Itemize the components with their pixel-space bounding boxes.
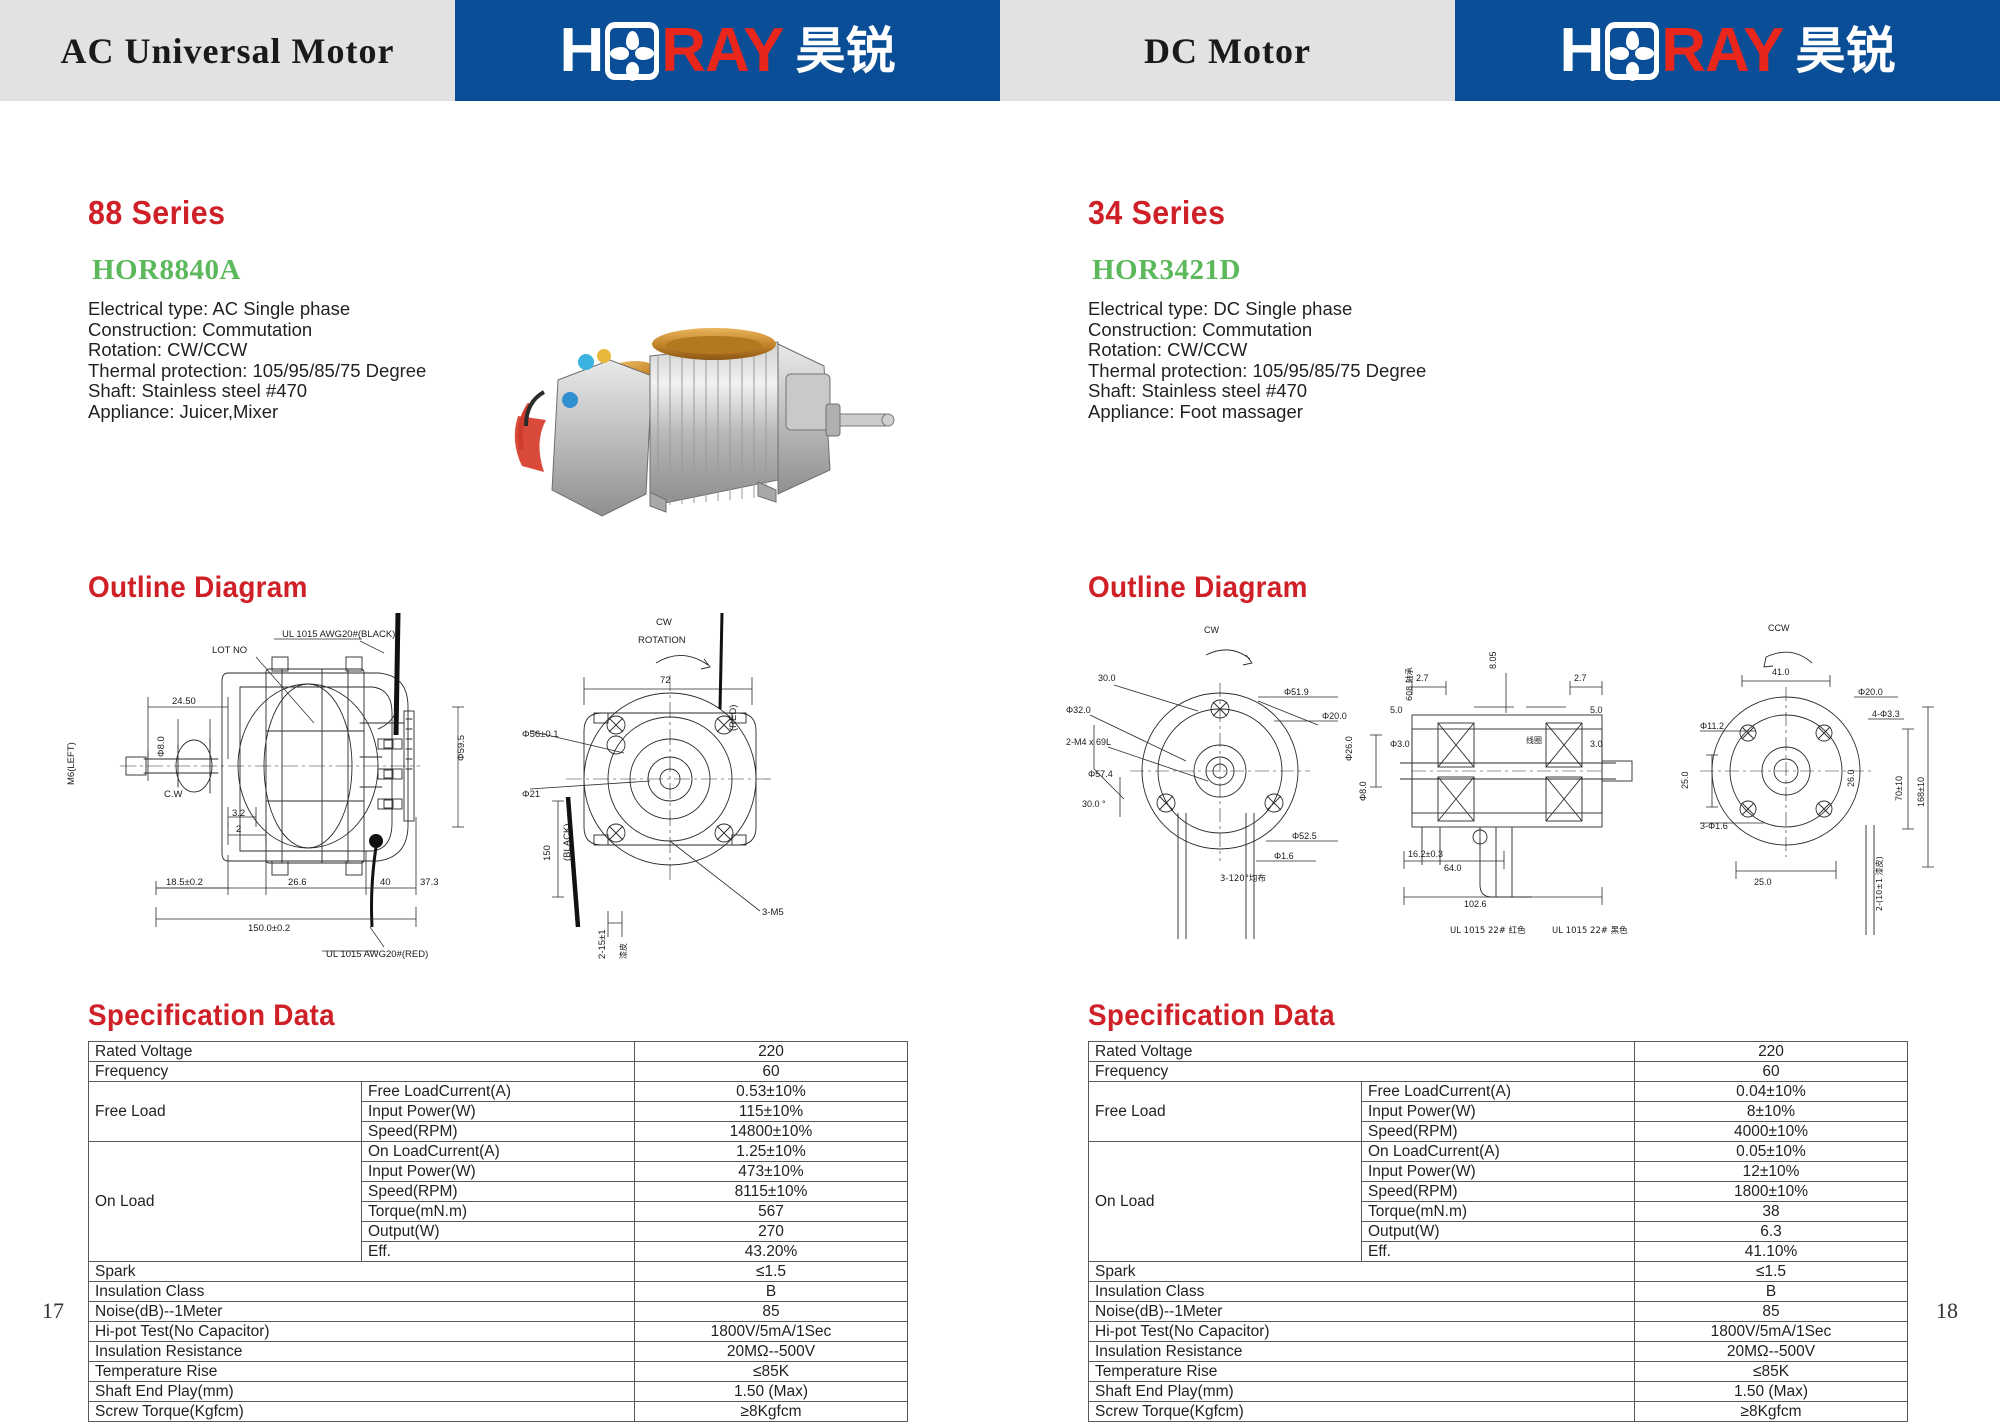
- logo-flower-icon: [1605, 22, 1659, 80]
- table-row: Insulation ClassB: [1089, 1282, 1908, 1302]
- spec-label: Input Power(W): [362, 1102, 635, 1122]
- table-row: Rated Voltage220: [89, 1042, 908, 1062]
- spec-value: 1800V/5mA/1Sec: [1635, 1322, 1908, 1342]
- spec-value: 85: [635, 1302, 908, 1322]
- logo-chinese-name: 昊锐: [1796, 26, 1896, 76]
- specification-data-heading: Specification Data: [1088, 999, 1335, 1033]
- svg-text:30.0 °: 30.0 °: [1082, 799, 1106, 809]
- spec-label: Insulation Resistance: [1089, 1342, 1635, 1362]
- spec-label: Eff.: [362, 1242, 635, 1262]
- table-row: Noise(dB)--1Meter85: [1089, 1302, 1908, 1322]
- catalog-page-body: 88 Series HOR8840A Electrical type: AC S…: [0, 101, 2000, 1338]
- outline-drawing-dc: CW 30.0 Φ32.0 2-M4 x 69L Φ57.4 30.0 ° Φ5…: [1060, 611, 1960, 981]
- spec-label: Hi-pot Test(No Capacitor): [1089, 1322, 1635, 1342]
- svg-text:Φ57.4: Φ57.4: [1088, 769, 1113, 779]
- specification-table: Rated Voltage220Frequency60Free LoadFree…: [88, 1041, 908, 1422]
- spec-value: 85: [1635, 1302, 1908, 1322]
- svg-text:16.2±0.3: 16.2±0.3: [1408, 849, 1443, 859]
- svg-text:608 轴承: 608 轴承: [1404, 667, 1414, 701]
- spec-value: 473±10%: [635, 1162, 908, 1182]
- header-title-dc: DC Motor: [1000, 0, 1455, 101]
- svg-text:Φ1.6: Φ1.6: [1274, 851, 1294, 861]
- spec-label: Rated Voltage: [89, 1042, 635, 1062]
- spec-value: 12±10%: [1635, 1162, 1908, 1182]
- spec-value: 20MΩ--500V: [635, 1342, 908, 1362]
- svg-text:3.2: 3.2: [232, 808, 245, 819]
- spec-value: 60: [635, 1062, 908, 1082]
- spec-label: Screw Torque(Kgfcm): [89, 1402, 635, 1422]
- spec-value: ≤1.5: [635, 1262, 908, 1282]
- svg-text:24.50: 24.50: [172, 696, 196, 707]
- svg-text:168±10: 168±10: [1916, 777, 1926, 807]
- spec-label: Temperature Rise: [1089, 1362, 1635, 1382]
- svg-text:Φ20.0: Φ20.0: [1858, 687, 1883, 697]
- spec-label: Insulation Resistance: [89, 1342, 635, 1362]
- spec-value: ≥8Kgfcm: [635, 1402, 908, 1422]
- svg-text:Φ8.0: Φ8.0: [156, 736, 167, 757]
- spec-value: 270: [635, 1222, 908, 1242]
- spec-value: 8115±10%: [635, 1182, 908, 1202]
- spec-label: Eff.: [1362, 1242, 1635, 1262]
- svg-text:64.0: 64.0: [1444, 863, 1462, 873]
- svg-text:(BLACK): (BLACK): [562, 824, 573, 861]
- table-row: Insulation Resistance20MΩ--500V: [89, 1342, 908, 1362]
- spec-value: ≤85K: [1635, 1362, 1908, 1382]
- spec-label: Frequency: [89, 1062, 635, 1082]
- table-row: Shaft End Play(mm)1.50 (Max): [1089, 1382, 1908, 1402]
- model-number: HOR8840A: [92, 254, 241, 287]
- table-row: Temperature Rise≤85K: [89, 1362, 908, 1382]
- model-number: HOR3421D: [1092, 254, 1241, 287]
- spec-label: Speed(RPM): [362, 1182, 635, 1202]
- table-row: Noise(dB)--1Meter85: [89, 1302, 908, 1322]
- svg-text:26.0: 26.0: [1846, 769, 1856, 787]
- spec-value: 115±10%: [635, 1102, 908, 1122]
- table-row: Frequency60: [89, 1062, 908, 1082]
- spec-value: ≤85K: [635, 1362, 908, 1382]
- svg-text:C.W: C.W: [164, 789, 183, 800]
- spec-value: 0.05±10%: [1635, 1142, 1908, 1162]
- spec-value: 14800±10%: [635, 1122, 908, 1142]
- spec-label: Shaft End Play(mm): [1089, 1382, 1635, 1402]
- spec-group-label: On Load: [1089, 1142, 1362, 1262]
- spec-value: 8±10%: [1635, 1102, 1908, 1122]
- spec-label: Input Power(W): [1362, 1162, 1635, 1182]
- spec-value: 6.3: [1635, 1222, 1908, 1242]
- spec-value: 0.53±10%: [635, 1082, 908, 1102]
- spec-value: B: [1635, 1282, 1908, 1302]
- page-number: 18: [1936, 1298, 1958, 1324]
- table-row: Frequency60: [1089, 1062, 1908, 1082]
- svg-text:Φ3.0: Φ3.0: [1390, 739, 1410, 749]
- svg-text:3.0: 3.0: [1590, 739, 1603, 749]
- logo-letter-h: H: [1560, 20, 1604, 82]
- svg-text:8.05: 8.05: [1488, 651, 1498, 669]
- svg-text:3-M5: 3-M5: [762, 907, 784, 918]
- svg-text:30.0: 30.0: [1098, 673, 1116, 683]
- spec-value: 1.50 (Max): [1635, 1382, 1908, 1402]
- svg-text:26.6: 26.6: [288, 877, 307, 888]
- table-row: Rated Voltage220: [1089, 1042, 1908, 1062]
- svg-text:18.5±0.2: 18.5±0.2: [166, 877, 203, 888]
- table-row: Free LoadFree LoadCurrent(A)0.53±10%: [89, 1082, 908, 1102]
- table-row: Shaft End Play(mm)1.50 (Max): [89, 1382, 908, 1402]
- logo-chinese-name: 昊锐: [796, 26, 896, 76]
- spec-value: 220: [635, 1042, 908, 1062]
- spec-label: Insulation Class: [89, 1282, 635, 1302]
- table-row: Insulation Resistance20MΩ--500V: [1089, 1342, 1908, 1362]
- table-row: Temperature Rise≤85K: [1089, 1362, 1908, 1382]
- svg-text:3-120°均布: 3-120°均布: [1220, 873, 1266, 884]
- svg-text:2-M4 x 69L: 2-M4 x 69L: [1066, 737, 1111, 747]
- spec-label: Free LoadCurrent(A): [362, 1082, 635, 1102]
- spec-label: Input Power(W): [362, 1162, 635, 1182]
- spec-value: ≥8Kgfcm: [1635, 1402, 1908, 1422]
- spec-label: Screw Torque(Kgfcm): [1089, 1402, 1635, 1422]
- table-row: On LoadOn LoadCurrent(A)1.25±10%: [89, 1142, 908, 1162]
- brand-logo-right: H RAY 昊锐: [1455, 0, 2000, 101]
- spec-value: ≤1.5: [1635, 1262, 1908, 1282]
- svg-text:ROTATION: ROTATION: [638, 635, 686, 646]
- svg-text:4-Φ3.3: 4-Φ3.3: [1872, 709, 1900, 719]
- svg-text:Φ26.0: Φ26.0: [1344, 736, 1354, 761]
- logo-flower-icon: [605, 22, 659, 80]
- table-row: Hi-pot Test(No Capacitor)1800V/5mA/1Sec: [1089, 1322, 1908, 1342]
- brand-logo-left: H RAY 昊锐: [455, 0, 1000, 101]
- page-header: AC Universal Motor H RAY 昊锐 DC Motor H R…: [0, 0, 2000, 101]
- svg-text:2: 2: [236, 824, 241, 835]
- table-row: On LoadOn LoadCurrent(A)0.05±10%: [1089, 1142, 1908, 1162]
- svg-text:LOT NO: LOT NO: [212, 645, 247, 656]
- spec-label: Hi-pot Test(No Capacitor): [89, 1322, 635, 1342]
- spec-value: 43.20%: [635, 1242, 908, 1262]
- svg-text:2.7: 2.7: [1574, 673, 1587, 683]
- svg-text:5.0: 5.0: [1590, 705, 1603, 715]
- spec-label: Insulation Class: [1089, 1282, 1635, 1302]
- spec-label: Shaft End Play(mm): [89, 1382, 635, 1402]
- spec-label: Speed(RPM): [362, 1122, 635, 1142]
- spec-value: 41.10%: [1635, 1242, 1908, 1262]
- spec-label: Free LoadCurrent(A): [1362, 1082, 1635, 1102]
- spec-label: Speed(RPM): [1362, 1122, 1635, 1142]
- svg-text:CW: CW: [1204, 625, 1219, 635]
- svg-text:UL 1015 22# 红色: UL 1015 22# 红色: [1450, 925, 1526, 936]
- svg-text:Φ32.0: Φ32.0: [1066, 705, 1091, 715]
- spec-label: On LoadCurrent(A): [1362, 1142, 1635, 1162]
- spec-value: 1.50 (Max): [635, 1382, 908, 1402]
- spec-label: Speed(RPM): [1362, 1182, 1635, 1202]
- product-photo-ac-motor: [500, 296, 920, 526]
- table-row: Screw Torque(Kgfcm)≥8Kgfcm: [89, 1402, 908, 1422]
- svg-text:70±10: 70±10: [1894, 776, 1904, 801]
- series-title: 34 Series: [1088, 194, 1226, 232]
- spec-label: Spark: [89, 1262, 635, 1282]
- table-row: Free LoadFree LoadCurrent(A)0.04±10%: [1089, 1082, 1908, 1102]
- svg-text:2-15±1: 2-15±1: [597, 929, 608, 959]
- svg-text:2-(10±1 漆皮): 2-(10±1 漆皮): [1874, 856, 1884, 911]
- outline-drawing-ac: 24.50 M6(LEFT) Φ8.0 C.W 2 3.2 18.5±0.2 2…: [60, 611, 960, 981]
- header-title-ac: AC Universal Motor: [0, 0, 455, 101]
- spec-value: 220: [1635, 1042, 1908, 1062]
- svg-text:25.0: 25.0: [1680, 771, 1690, 789]
- svg-text:UL 1015 22# 黑色: UL 1015 22# 黑色: [1552, 925, 1628, 936]
- svg-text:Φ8.0: Φ8.0: [1358, 781, 1368, 801]
- table-row: Screw Torque(Kgfcm)≥8Kgfcm: [1089, 1402, 1908, 1422]
- spec-label: Torque(mN.m): [1362, 1202, 1635, 1222]
- svg-text:41.0: 41.0: [1772, 667, 1790, 677]
- svg-text:37.3: 37.3: [420, 877, 439, 888]
- spec-value: 20MΩ--500V: [1635, 1342, 1908, 1362]
- logo-letters-ray: RAY: [661, 20, 783, 82]
- svg-text:25.0: 25.0: [1754, 877, 1772, 887]
- spec-value: 1800±10%: [1635, 1182, 1908, 1202]
- svg-text:(RED): (RED): [728, 705, 739, 731]
- svg-text:Φ51.9: Φ51.9: [1284, 687, 1309, 697]
- page-number: 17: [42, 1298, 64, 1324]
- svg-text:40: 40: [380, 877, 391, 888]
- spec-label: Rated Voltage: [1089, 1042, 1635, 1062]
- spec-label: Temperature Rise: [89, 1362, 635, 1382]
- spec-group-label: Free Load: [1089, 1082, 1362, 1142]
- svg-text:150.0±0.2: 150.0±0.2: [248, 923, 290, 934]
- svg-text:2.7: 2.7: [1416, 673, 1429, 683]
- spec-value: B: [635, 1282, 908, 1302]
- table-row: Insulation ClassB: [89, 1282, 908, 1302]
- specification-data-heading: Specification Data: [88, 999, 335, 1033]
- spec-label: Torque(mN.m): [362, 1202, 635, 1222]
- svg-text:Φ52.5: Φ52.5: [1292, 831, 1317, 841]
- table-row: Hi-pot Test(No Capacitor)1800V/5mA/1Sec: [89, 1322, 908, 1342]
- table-row: Spark≤1.5: [89, 1262, 908, 1282]
- spec-label: Noise(dB)--1Meter: [1089, 1302, 1635, 1322]
- svg-text:漆皮: 漆皮: [618, 943, 628, 959]
- svg-text:Φ56±0.1: Φ56±0.1: [522, 729, 559, 740]
- svg-text:Φ21: Φ21: [522, 789, 540, 800]
- product-spec-list: Electrical type: DC Single phase Constru…: [1088, 299, 1426, 422]
- spec-value: 1.25±10%: [635, 1142, 908, 1162]
- svg-text:M6(LEFT): M6(LEFT): [66, 742, 77, 785]
- spec-label: Noise(dB)--1Meter: [89, 1302, 635, 1322]
- spec-value: 38: [1635, 1202, 1908, 1222]
- spec-value: 0.04±10%: [1635, 1082, 1908, 1102]
- table-row: Spark≤1.5: [1089, 1262, 1908, 1282]
- spec-label: On LoadCurrent(A): [362, 1142, 635, 1162]
- spec-value: 4000±10%: [1635, 1122, 1908, 1142]
- svg-text:CW: CW: [656, 617, 672, 628]
- column-dc-motor: 34 Series HOR3421D Electrical type: DC S…: [1000, 101, 2000, 1338]
- product-spec-list: Electrical type: AC Single phase Constru…: [88, 299, 426, 422]
- spec-label: Spark: [1089, 1262, 1635, 1282]
- svg-text:CCW: CCW: [1768, 623, 1790, 633]
- svg-text:3-Φ1.6: 3-Φ1.6: [1700, 821, 1728, 831]
- outline-diagram-heading: Outline Diagram: [88, 571, 308, 605]
- logo-letter-h: H: [560, 20, 604, 82]
- svg-text:72: 72: [660, 675, 671, 686]
- spec-label: Output(W): [362, 1222, 635, 1242]
- specification-table: Rated Voltage220Frequency60Free LoadFree…: [1088, 1041, 1908, 1422]
- logo-letters-ray: RAY: [1661, 20, 1783, 82]
- spec-group-label: Free Load: [89, 1082, 362, 1142]
- spec-group-label: On Load: [89, 1142, 362, 1262]
- spec-label: Output(W): [1362, 1222, 1635, 1242]
- svg-text:5.0: 5.0: [1390, 705, 1403, 715]
- svg-text:UL 1015 AWG20#(BLACK): UL 1015 AWG20#(BLACK): [282, 629, 395, 640]
- spec-value: 1800V/5mA/1Sec: [635, 1322, 908, 1342]
- series-title: 88 Series: [88, 194, 226, 232]
- svg-text:线圈: 线圈: [1526, 735, 1542, 745]
- svg-text:102.6: 102.6: [1464, 899, 1487, 909]
- svg-text:Φ11.2: Φ11.2: [1700, 721, 1724, 731]
- spec-label: Input Power(W): [1362, 1102, 1635, 1122]
- spec-label: Frequency: [1089, 1062, 1635, 1082]
- spec-value: 567: [635, 1202, 908, 1222]
- spec-value: 60: [1635, 1062, 1908, 1082]
- svg-text:Φ20.0: Φ20.0: [1322, 711, 1347, 721]
- column-ac-motor: 88 Series HOR8840A Electrical type: AC S…: [0, 101, 1000, 1338]
- svg-text:150: 150: [542, 845, 553, 861]
- outline-diagram-heading: Outline Diagram: [1088, 571, 1308, 605]
